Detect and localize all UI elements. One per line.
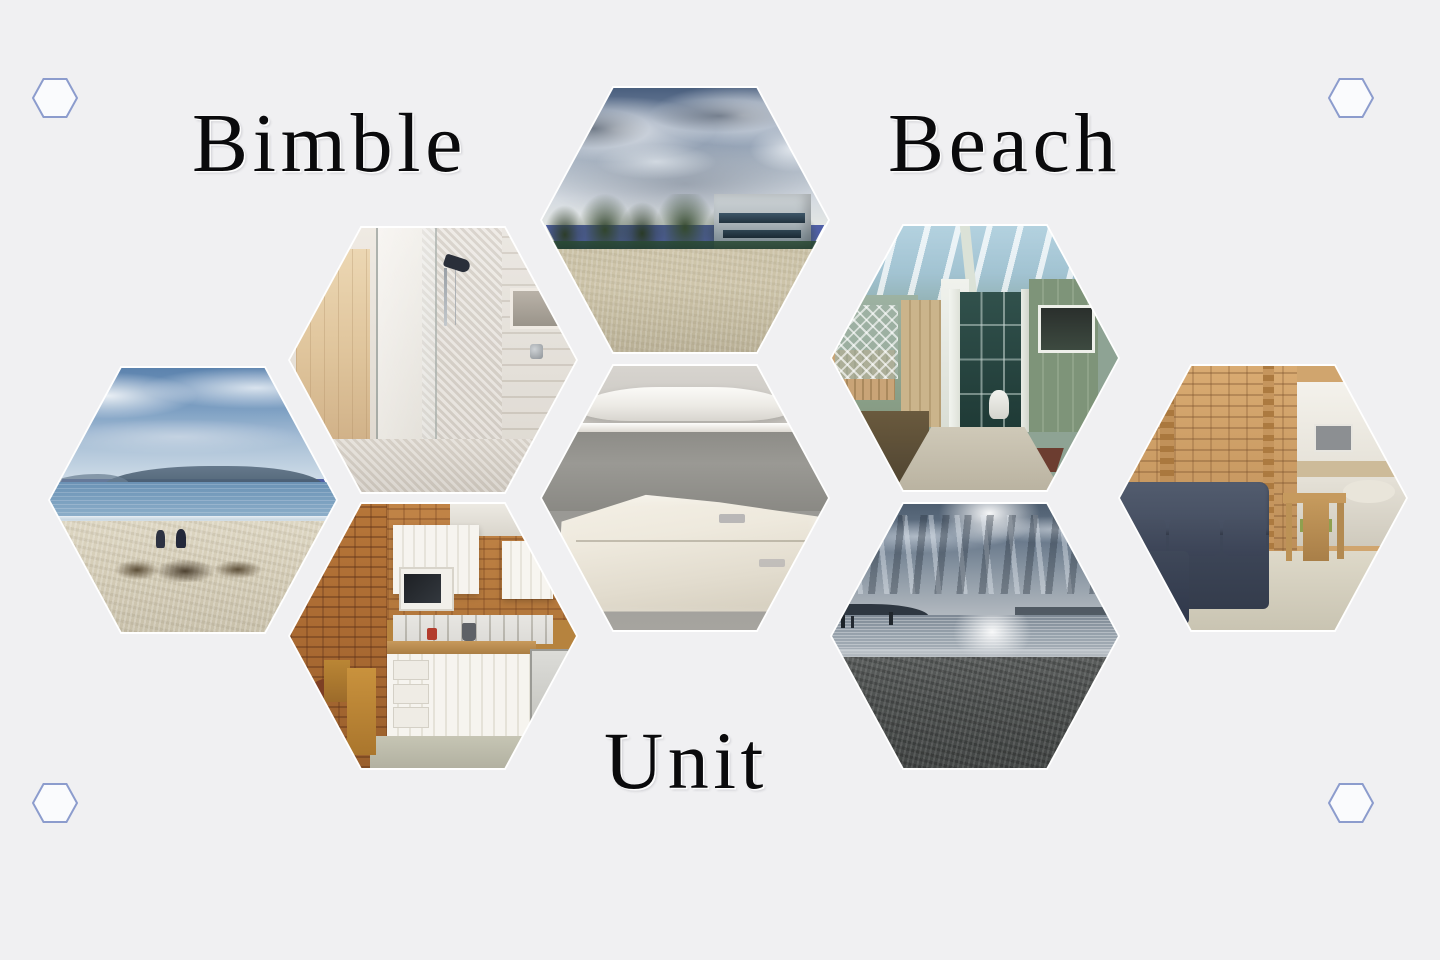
cell-photo-living-room (1120, 366, 1406, 630)
collage-cell-beach-people (48, 366, 338, 634)
cell-photo-beach-house (542, 88, 828, 352)
cell-photo-green-entrance (832, 226, 1118, 490)
collage-cell-beach-house (540, 86, 830, 354)
corner-hexagon-top-right-icon (1328, 78, 1374, 118)
cell-photo-bed-linen (542, 366, 828, 630)
collage-cell-shower (288, 226, 578, 494)
collage-cell-living-room (1118, 364, 1408, 632)
listing-hero-collage: Bimble Beach Unit (0, 0, 1440, 960)
collage-cell-bed-linen (540, 364, 830, 632)
cell-photo-kitchen (290, 504, 576, 768)
title-word-beach: Beach (888, 102, 1121, 186)
corner-hexagon-top-left-icon (32, 78, 78, 118)
corner-hexagon-bottom-right-icon (1328, 783, 1374, 823)
collage-cell-sunset-beach (830, 502, 1120, 770)
cell-photo-shower (290, 228, 576, 492)
corner-hexagon-bottom-left-icon (32, 783, 78, 823)
collage-cell-green-entrance (830, 224, 1120, 492)
title-word-bimble: Bimble (192, 102, 467, 186)
cell-photo-beach-people (50, 368, 336, 632)
collage-cell-kitchen (288, 502, 578, 770)
title-word-unit: Unit (604, 720, 768, 802)
cell-photo-sunset-beach (832, 504, 1118, 768)
